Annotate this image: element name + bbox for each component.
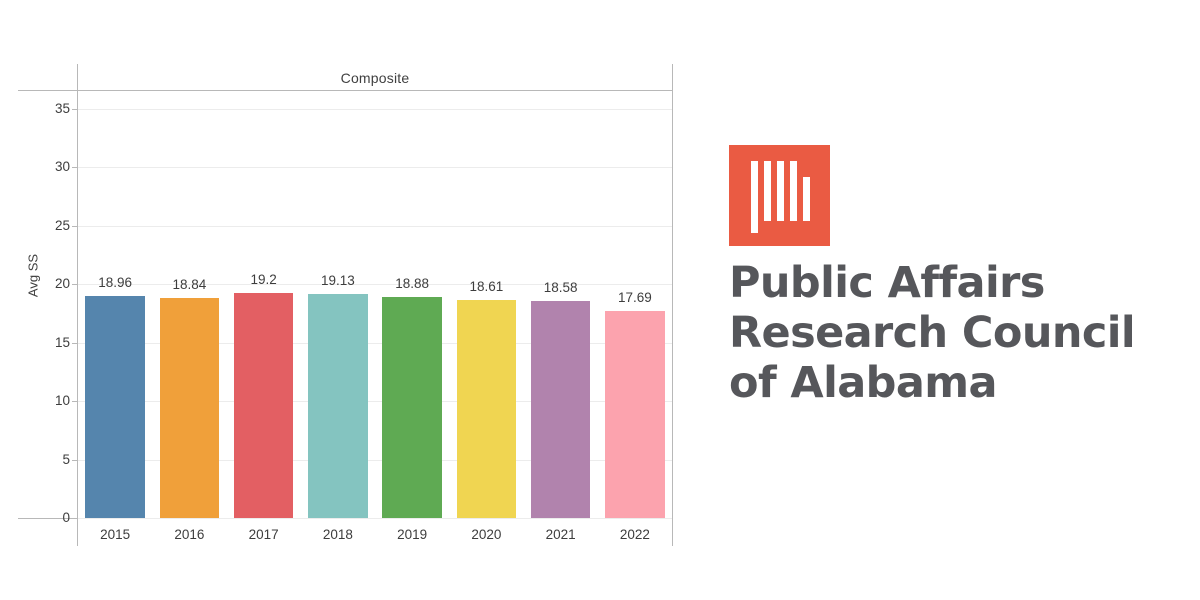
chart-right-spine: [672, 64, 673, 546]
parca-logo-mark: [729, 145, 830, 246]
y-axis-title: Avg SS: [26, 241, 41, 311]
bar-value-label: 18.58: [524, 280, 598, 295]
gridline: [78, 167, 672, 168]
y-axis-tick-label: 35: [34, 102, 70, 116]
screenshot-root: Composite Avg SS 05101520253035 18.9618.…: [0, 0, 1200, 600]
x-axis-tick-label: 2015: [78, 527, 152, 542]
bar[interactable]: [605, 311, 664, 518]
bar-chart-panel: Composite Avg SS 05101520253035 18.9618.…: [0, 0, 700, 600]
y-axis-tick-label: 20: [34, 277, 70, 291]
y-axis-tick-label: 0: [34, 511, 70, 525]
logo-bar-4: [790, 161, 797, 221]
x-axis-tick-label: 2017: [227, 527, 301, 542]
y-axis-tick-label: 30: [34, 160, 70, 174]
x-axis-tick-label: 2021: [524, 527, 598, 542]
bar-value-label: 19.2: [227, 272, 301, 287]
x-axis-tick-label: 2016: [152, 527, 226, 542]
gridline: [78, 226, 672, 227]
bar-value-label: 18.84: [152, 277, 226, 292]
bar-value-label: 18.88: [375, 276, 449, 291]
wordmark-line-2: Research Council: [729, 308, 1200, 358]
y-axis-tick-mark: [72, 518, 77, 519]
bar-value-label: 18.96: [78, 275, 152, 290]
wordmark-line-3: of Alabama: [729, 358, 1200, 408]
parca-wordmark: Public Affairs Research Council of Alaba…: [729, 258, 1200, 408]
bar[interactable]: [531, 301, 590, 518]
bar[interactable]: [85, 296, 144, 518]
y-axis-tick-mark: [72, 284, 77, 285]
bar[interactable]: [234, 293, 293, 518]
y-axis-tick-mark: [72, 226, 77, 227]
y-axis-tick-mark: [72, 460, 77, 461]
x-axis-tick-label: 2020: [449, 527, 523, 542]
x-axis-tick-label: 2018: [301, 527, 375, 542]
gridline: [78, 518, 672, 519]
x-axis-tick-label: 2022: [598, 527, 672, 542]
x-axis-tick-label: 2019: [375, 527, 449, 542]
bar[interactable]: [160, 298, 219, 518]
bar[interactable]: [457, 300, 516, 518]
bar-value-label: 17.69: [598, 290, 672, 305]
y-axis-tick-label: 25: [34, 219, 70, 233]
bar-value-label: 19.13: [301, 273, 375, 288]
y-axis-tick-mark: [72, 167, 77, 168]
logo-bar-3: [777, 161, 784, 221]
chart-title: Composite: [78, 70, 672, 86]
y-axis-tick-label: 15: [34, 336, 70, 350]
logo-bar-2: [764, 161, 771, 221]
y-axis-tick-mark: [72, 343, 77, 344]
gridline: [78, 109, 672, 110]
y-axis-tick-mark: [72, 401, 77, 402]
bar[interactable]: [308, 294, 367, 518]
logo-bar-1: [751, 161, 758, 233]
plot-area: [78, 91, 672, 518]
y-axis-tick-mark: [72, 109, 77, 110]
wordmark-line-1: Public Affairs: [729, 258, 1200, 308]
y-axis-tick-label: 5: [34, 453, 70, 467]
y-axis-tick-label: 10: [34, 394, 70, 408]
bar[interactable]: [382, 297, 441, 518]
parca-logo: [729, 145, 830, 246]
logo-bar-5: [803, 177, 810, 221]
bar-value-label: 18.61: [449, 279, 523, 294]
